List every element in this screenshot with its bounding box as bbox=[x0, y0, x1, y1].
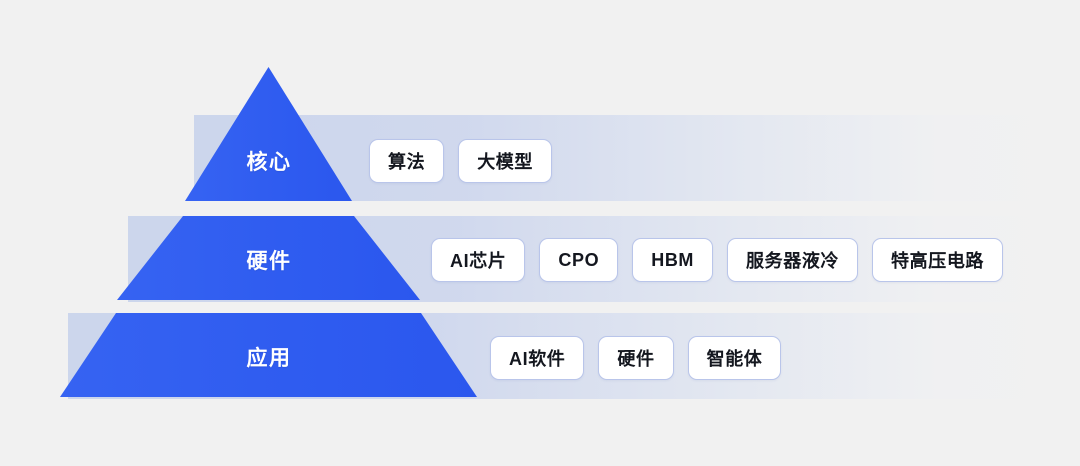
chip-hardware-4[interactable]: 特高压电路 bbox=[872, 238, 1003, 282]
chip-application-0[interactable]: AI软件 bbox=[490, 336, 584, 380]
chip-row-core: 算法 大模型 bbox=[369, 139, 552, 183]
chip-application-1[interactable]: 硬件 bbox=[598, 336, 673, 380]
chip-hardware-2[interactable]: HBM bbox=[632, 238, 713, 282]
chip-core-1[interactable]: 大模型 bbox=[458, 139, 552, 183]
tier-label-hardware: 硬件 bbox=[247, 245, 292, 275]
chip-core-0[interactable]: 算法 bbox=[369, 139, 444, 183]
chip-application-2[interactable]: 智能体 bbox=[688, 336, 782, 380]
chip-hardware-1[interactable]: CPO bbox=[539, 238, 618, 282]
pyramid-shape-group bbox=[0, 0, 560, 466]
pyramid-diagram: 核心 硬件 应用 算法 大模型 AI芯片 CPO HBM 服务器液冷 特高压电路… bbox=[0, 0, 1080, 466]
chip-row-hardware: AI芯片 CPO HBM 服务器液冷 特高压电路 bbox=[431, 238, 1003, 282]
chip-hardware-0[interactable]: AI芯片 bbox=[431, 238, 525, 282]
pyramid-tier-core bbox=[185, 67, 352, 201]
chip-hardware-3[interactable]: 服务器液冷 bbox=[727, 238, 858, 282]
chip-row-application: AI软件 硬件 智能体 bbox=[490, 336, 781, 380]
tier-label-core: 核心 bbox=[247, 146, 292, 176]
tier-label-application: 应用 bbox=[247, 342, 292, 372]
